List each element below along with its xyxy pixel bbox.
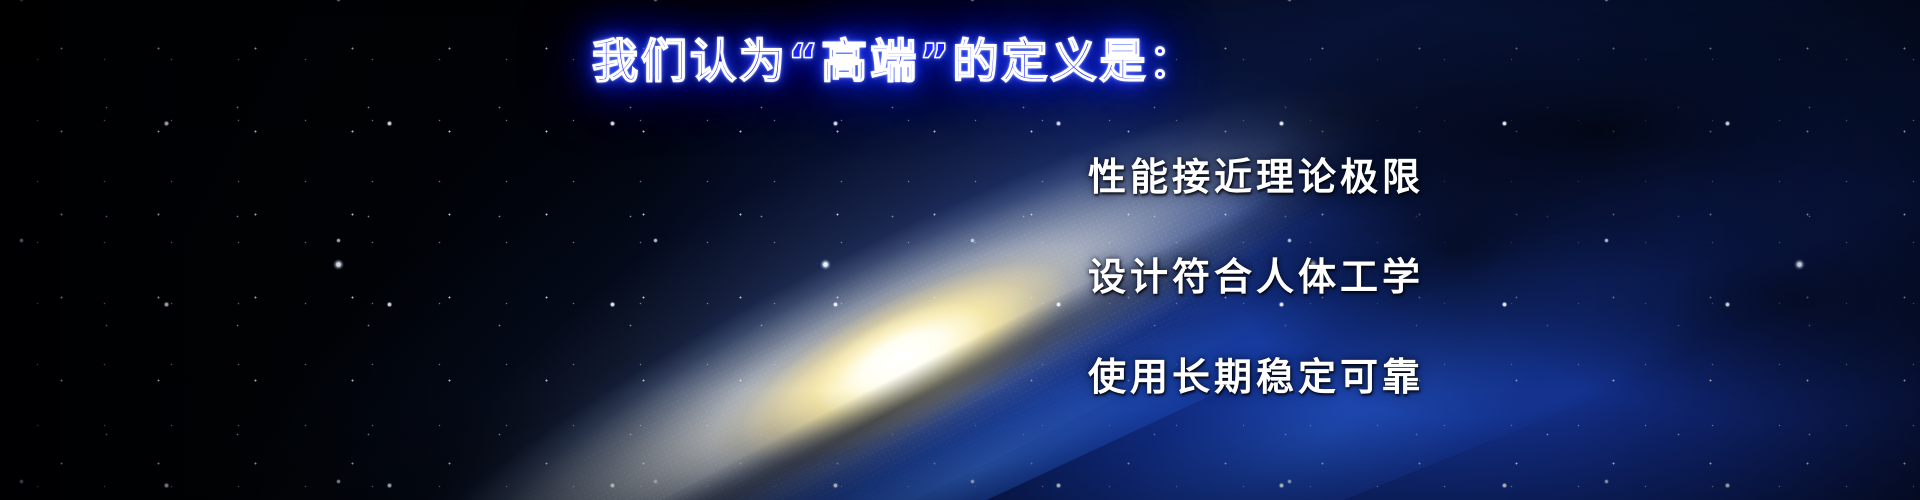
hero-banner: 我们认为“高端”的定义是： 性能接近理论极限 设计符合人体工学 使用长期稳定可靠 bbox=[0, 0, 1920, 500]
feature-item-ergonomics: 设计符合人体工学 bbox=[1088, 258, 1508, 296]
page-title: 我们认为“高端”的定义是： bbox=[592, 38, 1197, 84]
page-title-text: 我们认为“高端”的定义是： bbox=[592, 34, 1197, 88]
feature-item-reliability: 使用长期稳定可靠 bbox=[1088, 358, 1508, 396]
feature-item-performance: 性能接近理论极限 bbox=[1088, 158, 1508, 196]
feature-list: 性能接近理论极限 设计符合人体工学 使用长期稳定可靠 bbox=[1088, 158, 1508, 396]
